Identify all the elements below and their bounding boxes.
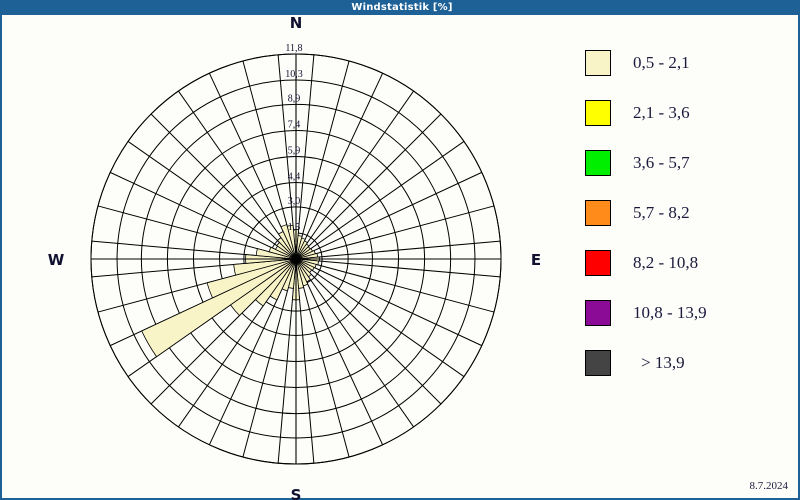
window-titlebar: Windstatistik [%] — [2, 0, 800, 15]
legend-label: 5,7 - 8,2 — [633, 203, 690, 223]
legend-swatch — [585, 150, 611, 176]
radial-tick-label: 7,4 — [288, 119, 301, 130]
grid-spoke — [296, 73, 383, 259]
radial-tick-label: 1,5 — [288, 222, 301, 233]
grid-spoke — [296, 259, 441, 404]
legend-row[interactable]: 5,7 - 8,2 — [585, 188, 795, 238]
legend-row[interactable]: 10,8 - 13,9 — [585, 288, 795, 338]
grid-spoke — [151, 114, 296, 259]
speed-bin-legend: 0,5 - 2,12,1 - 3,63,6 - 5,75,7 - 8,28,2 … — [585, 38, 795, 388]
grid-spoke — [296, 172, 482, 259]
radial-tick-label: 5,9 — [288, 146, 301, 157]
wind-rose-svg: 1,53,04,45,97,48,910,311,8 N E S W — [2, 15, 562, 500]
legend-label: 3,6 - 5,7 — [633, 153, 690, 173]
compass-label-east: E — [531, 251, 541, 269]
date-stamp: 8.7.2024 — [750, 480, 789, 492]
radial-tick-label: 3,0 — [288, 196, 301, 207]
legend-label: 10,8 - 13,9 — [633, 303, 707, 323]
radial-tick-label: 11,8 — [285, 43, 302, 54]
legend-swatch — [585, 200, 611, 226]
legend-swatch — [585, 50, 611, 76]
grid-spoke — [296, 206, 494, 259]
legend-label: 2,1 - 3,6 — [633, 103, 690, 123]
grid-spoke — [296, 114, 441, 259]
legend-row[interactable]: 0,5 - 2,1 — [585, 38, 795, 88]
radial-tick-label: 10,3 — [285, 69, 303, 80]
radial-tick-label: 8,9 — [288, 93, 301, 104]
legend-swatch — [585, 300, 611, 326]
legend-row[interactable]: 2,1 - 3,6 — [585, 88, 795, 138]
grid-spoke — [296, 259, 383, 445]
compass-label-north: N — [290, 15, 303, 32]
windstatistik-window: Windstatistik [%] 1,53,04,45,97,48,910,3… — [0, 0, 800, 500]
compass-label-south: S — [291, 486, 302, 500]
legend-row[interactable]: 8,2 - 10,8 — [585, 238, 795, 288]
legend-swatch — [585, 250, 611, 276]
radial-tick-label: 4,4 — [288, 172, 301, 183]
grid-spoke — [296, 259, 349, 457]
legend-swatch — [585, 350, 611, 376]
grid-spoke — [296, 259, 482, 346]
radial-tick-labels: 1,53,04,45,97,48,910,311,8 — [285, 43, 303, 233]
legend-label: 0,5 - 2,1 — [633, 53, 690, 73]
window-title: Windstatistik [%] — [351, 2, 452, 13]
grid-spoke — [296, 259, 494, 312]
grid-spoke — [110, 172, 296, 259]
legend-label: 8,2 - 10,8 — [633, 253, 698, 273]
legend-swatch — [585, 100, 611, 126]
legend-label: > 13,9 — [641, 353, 685, 373]
wind-rose-plot: 1,53,04,45,97,48,910,311,8 N E S W — [2, 15, 562, 500]
legend-row[interactable]: 3,6 - 5,7 — [585, 138, 795, 188]
grid-spoke — [296, 61, 349, 259]
compass-label-west: W — [48, 251, 65, 269]
legend-row[interactable]: > 13,9 — [585, 338, 795, 388]
